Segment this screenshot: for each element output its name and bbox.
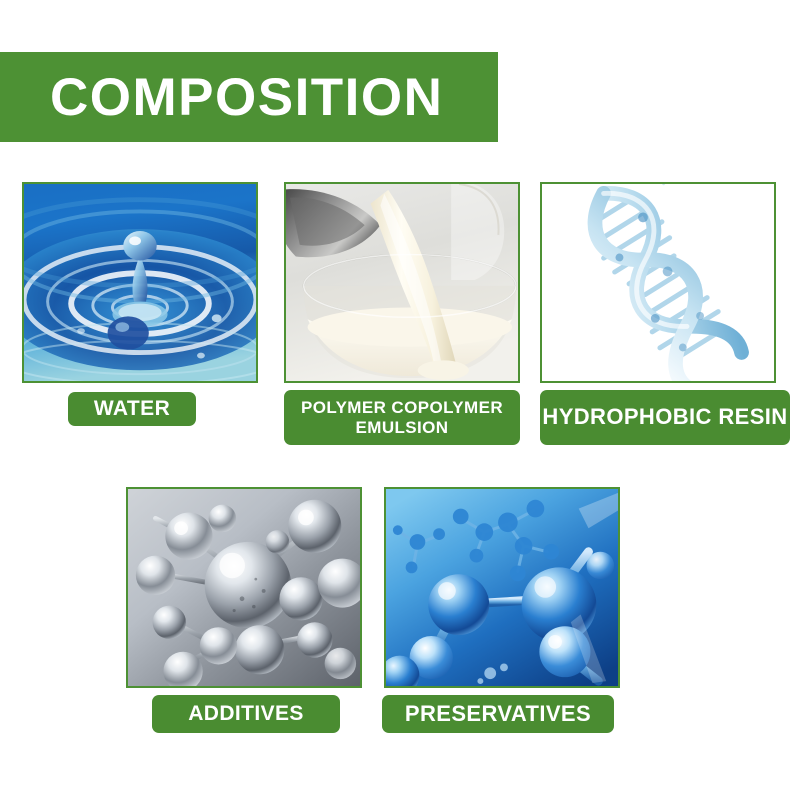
card-label-preservatives: PRESERVATIVES	[382, 695, 614, 733]
water-droplet-splash-photo	[22, 182, 258, 383]
title-banner: COMPOSITION	[0, 52, 498, 142]
card-label-polymer: POLYMER COPOLYMER EMULSION	[284, 390, 520, 445]
polymer-emulsion-pouring-photo	[284, 182, 520, 383]
silver-molecule-spheres-photo	[126, 487, 362, 688]
card-label-resin: HYDROPHOBIC RESIN	[540, 390, 790, 445]
card-label-water: WATER	[68, 392, 196, 426]
composition-infographic: COMPOSITION	[0, 0, 800, 800]
page-title: COMPOSITION	[0, 71, 443, 124]
blue-molecule-spheres-photo	[384, 487, 620, 688]
card-label-additives: ADDITIVES	[152, 695, 340, 733]
dna-double-helix-photo	[540, 182, 776, 383]
